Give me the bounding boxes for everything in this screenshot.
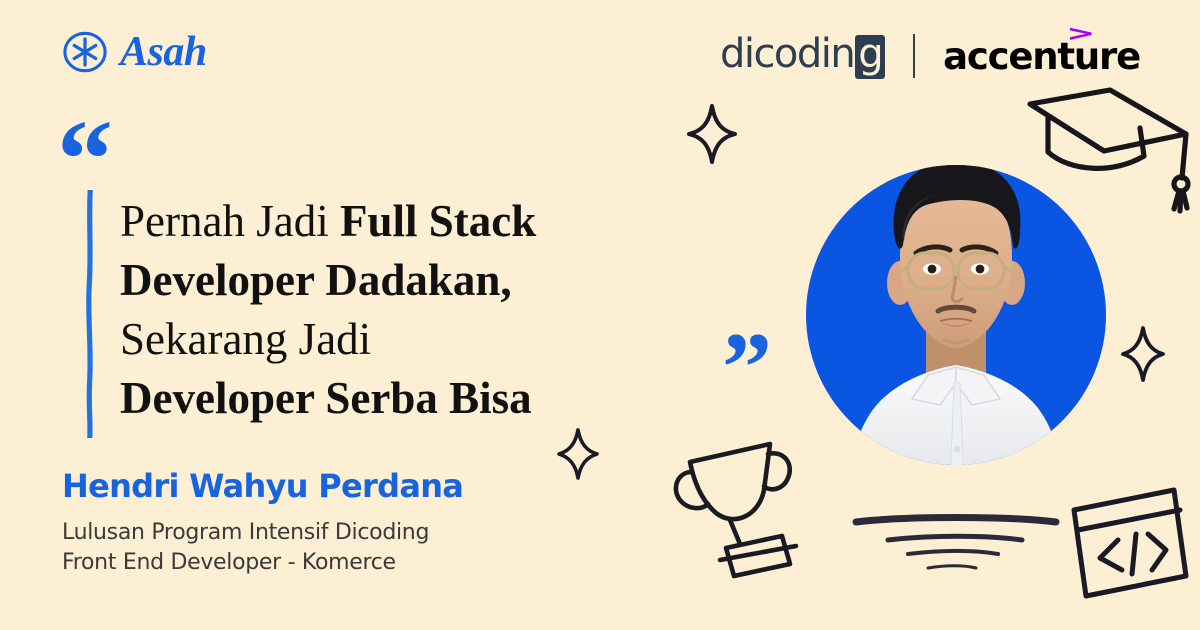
code-window-doodle-icon (1062, 482, 1194, 612)
person-meta: Lulusan Program Intensif Dicoding Front … (62, 518, 429, 578)
asterisk-in-circle-icon (62, 29, 108, 75)
quote-seg: Sekarang Jadi (120, 314, 371, 364)
person-meta-line-2: Front End Developer - Komerce (62, 548, 429, 578)
quote-line-4: Developer Serba Bisa (120, 369, 680, 428)
accent-bar (86, 190, 94, 438)
person-meta-line-1: Lulusan Program Intensif Dicoding (62, 518, 429, 548)
testimonial-card: Asah dicoding > accenture “ Pernah Jadi … (0, 0, 1200, 630)
partner-logos: dicoding > accenture (720, 32, 1140, 80)
accenture-arrow-icon: > (1066, 23, 1094, 45)
quote-seg: Developer Dadakan, (120, 255, 512, 305)
asah-wordmark: Asah (120, 31, 207, 73)
open-quote-mark: “ (57, 104, 110, 216)
person-name: Hendri Wahyu Perdana (62, 468, 463, 505)
quote-seg: Full Stack (340, 196, 536, 246)
sparkle-doodle-icon (1120, 326, 1166, 382)
dicoding-wordmark-prefix: dicodin (720, 34, 854, 74)
close-quote-mark: ” (722, 318, 769, 418)
quote-seg: Developer Serba Bisa (120, 373, 532, 423)
quote-line-3: Sekarang Jadi (120, 310, 680, 369)
accenture-logo[interactable]: > accenture (943, 38, 1140, 75)
quote-line-1: Pernah Jadi Full Stack (120, 192, 680, 251)
quote-seg: Pernah Jadi (120, 196, 340, 246)
accenture-wordmark: accenture (943, 35, 1140, 78)
dicoding-wordmark-suffix: g (855, 35, 885, 79)
graduation-cap-doodle-icon (1022, 78, 1194, 228)
quote-line-2: Developer Dadakan, (120, 251, 680, 310)
document-lines-doodle-icon (846, 498, 1066, 628)
sparkle-doodle-icon (556, 428, 600, 480)
trophy-doodle-icon (668, 428, 828, 588)
asah-brand-logo[interactable]: Asah (62, 29, 207, 75)
quote-headline: Pernah Jadi Full Stack Developer Dadakan… (120, 192, 680, 428)
dicoding-logo[interactable]: dicoding (720, 34, 885, 79)
logo-divider (913, 34, 915, 78)
sparkle-doodle-icon (686, 104, 738, 164)
